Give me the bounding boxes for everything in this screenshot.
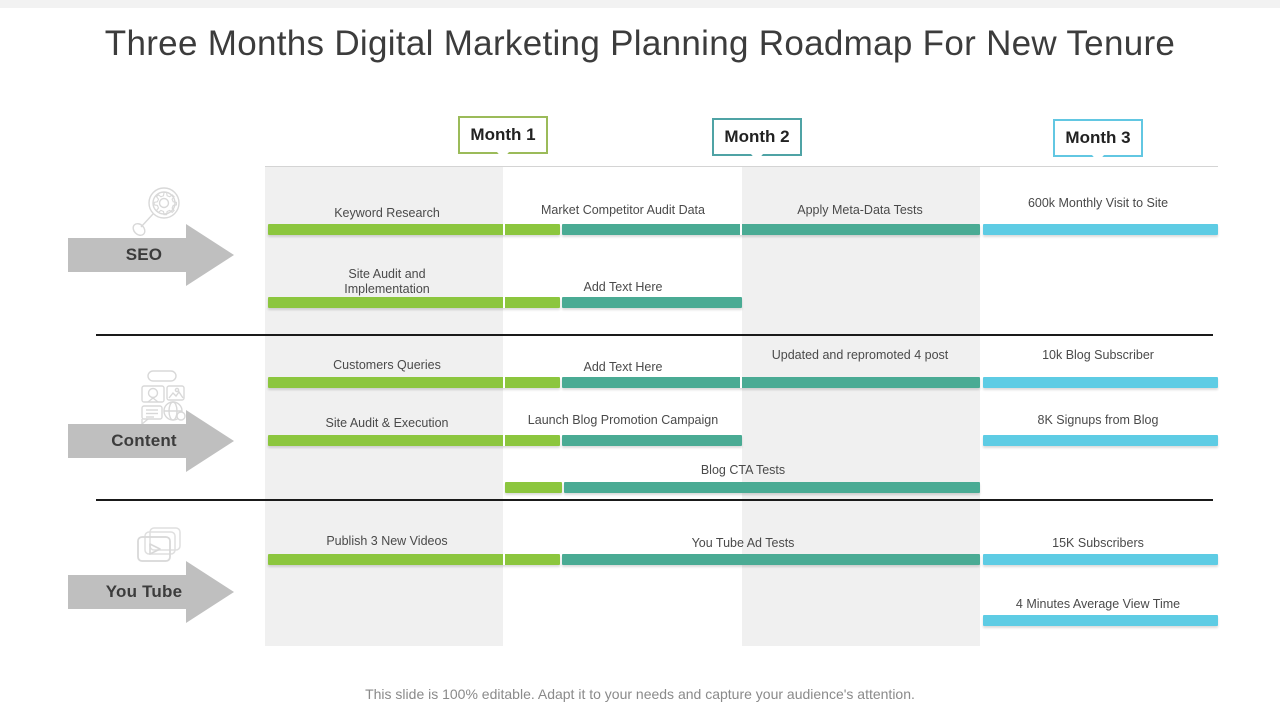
- task-label-add-text-here-content: Add Text Here: [523, 360, 723, 375]
- task-bar-updated-repromoted[interactable]: [562, 377, 980, 388]
- task-bar-15k-subscribers[interactable]: [983, 554, 1218, 565]
- lane-label-youtube: You Tube: [68, 561, 220, 623]
- task-label-customers-queries: Customers Queries: [287, 358, 487, 373]
- task-bar-youtube-ad-tests[interactable]: [562, 554, 980, 565]
- task-label-youtube-ad-tests: You Tube Ad Tests: [643, 536, 843, 551]
- task-bar-market-competitor-audit[interactable]: [562, 224, 980, 235]
- task-label-15k-subscribers: 15K Subscribers: [998, 536, 1198, 551]
- task-bar-site-audit-implementation[interactable]: [268, 297, 560, 308]
- slide-canvas: Three Months Digital Marketing Planning …: [0, 0, 1280, 720]
- month-header-3-label: Month 3: [1065, 128, 1130, 148]
- task-label-market-competitor-audit: Market Competitor Audit Data: [523, 203, 723, 218]
- month-header-1-pointer: [497, 152, 509, 159]
- task-label-apply-metadata-tests: Apply Meta-Data Tests: [760, 203, 960, 218]
- month-header-2-label: Month 2: [724, 127, 789, 147]
- task-bar-600k-monthly-visit[interactable]: [983, 224, 1218, 235]
- task-label-updated-repromoted: Updated and repromoted 4 post: [750, 348, 970, 363]
- bar-seam: [503, 377, 505, 388]
- task-label-publish-3-new-videos: Publish 3 New Videos: [287, 534, 487, 549]
- month-header-2[interactable]: Month 2: [712, 118, 802, 156]
- task-label-600k-monthly-visit: 600k Monthly Visit to Site: [998, 196, 1198, 211]
- task-bar-8k-signups-from-blog[interactable]: [983, 435, 1218, 446]
- task-bar-4-minutes-average-view-time[interactable]: [983, 615, 1218, 626]
- task-label-add-text-here-seo: Add Text Here: [523, 280, 723, 295]
- bar-seam: [503, 297, 505, 308]
- task-bar-10k-blog-subscriber[interactable]: [983, 377, 1218, 388]
- bar-seam: [740, 224, 742, 235]
- month-header-3-pointer: [1092, 155, 1104, 162]
- task-bar-publish-3-new-videos[interactable]: [268, 554, 560, 565]
- top-strip: [0, 0, 1280, 8]
- task-label-blog-cta-tests: Blog CTA Tests: [643, 463, 843, 478]
- lane-divider-2: [96, 499, 1213, 501]
- task-bar-blog-cta-tests-lead[interactable]: [505, 482, 562, 493]
- task-bar-site-audit-execution[interactable]: [268, 435, 560, 446]
- task-bar-customers-queries[interactable]: [268, 377, 560, 388]
- month-header-1[interactable]: Month 1: [458, 116, 548, 154]
- task-bar-launch-blog-promotion[interactable]: [562, 435, 742, 446]
- lane-arrow-youtube[interactable]: You Tube: [68, 561, 234, 623]
- task-bar-blog-cta-tests[interactable]: [564, 482, 980, 493]
- task-label-keyword-research: Keyword Research: [287, 206, 487, 221]
- lane-label-content: Content: [68, 410, 220, 472]
- task-bar-add-text-here-seo[interactable]: [562, 297, 742, 308]
- task-label-launch-blog-promotion: Launch Blog Promotion Campaign: [513, 413, 733, 428]
- month-header-3[interactable]: Month 3: [1053, 119, 1143, 157]
- month-header-2-pointer: [751, 154, 763, 161]
- lane-divider-1: [96, 334, 1213, 336]
- lane-label-seo: SEO: [68, 224, 220, 286]
- task-label-site-audit-implementation: Site Audit and Implementation: [287, 267, 487, 297]
- task-label-site-audit-execution: Site Audit & Execution: [287, 416, 487, 431]
- footer-note: This slide is 100% editable. Adapt it to…: [0, 686, 1280, 702]
- task-label-8k-signups-from-blog: 8K Signups from Blog: [998, 413, 1198, 428]
- bar-seam: [740, 377, 742, 388]
- task-label-4-minutes-average-view-time: 4 Minutes Average View Time: [988, 597, 1208, 612]
- lane-arrow-content[interactable]: Content: [68, 410, 234, 472]
- grid-band-col3: [742, 167, 980, 646]
- grid-band-col1: [265, 167, 503, 646]
- bar-seam: [503, 224, 505, 235]
- lane-arrow-seo[interactable]: SEO: [68, 224, 234, 286]
- task-label-10k-blog-subscriber: 10k Blog Subscriber: [998, 348, 1198, 363]
- page-title: Three Months Digital Marketing Planning …: [60, 24, 1220, 64]
- bar-seam: [503, 435, 505, 446]
- task-bar-keyword-research[interactable]: [268, 224, 560, 235]
- month-header-1-label: Month 1: [470, 125, 535, 145]
- timeline-grid: [265, 167, 1218, 646]
- bar-seam: [503, 554, 505, 565]
